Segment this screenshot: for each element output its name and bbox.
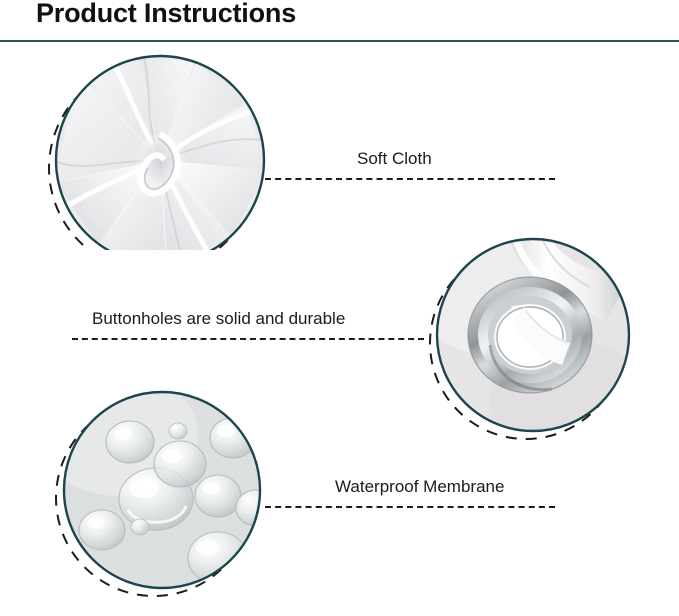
callout-label-soft-cloth: Soft Cloth [357, 150, 432, 167]
buttonhole-grommet-photo [420, 225, 660, 455]
page-title: Product Instructions [36, 0, 296, 29]
waterproof-figure [28, 386, 298, 601]
title-divider [0, 40, 679, 42]
product-instructions-infographic: Product Instructions [0, 0, 679, 616]
soft-cloth-figure [18, 50, 288, 250]
callout-label-buttonholes: Buttonholes are solid and durable [92, 310, 345, 327]
callout-leader-line-soft-cloth [265, 178, 555, 180]
callout-leader-line-waterproof [265, 506, 555, 508]
waterproof-membrane-photo [28, 386, 298, 601]
soft-cloth-photo [18, 50, 288, 250]
callout-leader-line-buttonholes [72, 338, 424, 340]
callout-label-waterproof: Waterproof Membrane [335, 478, 504, 495]
grommet-figure [420, 225, 660, 455]
